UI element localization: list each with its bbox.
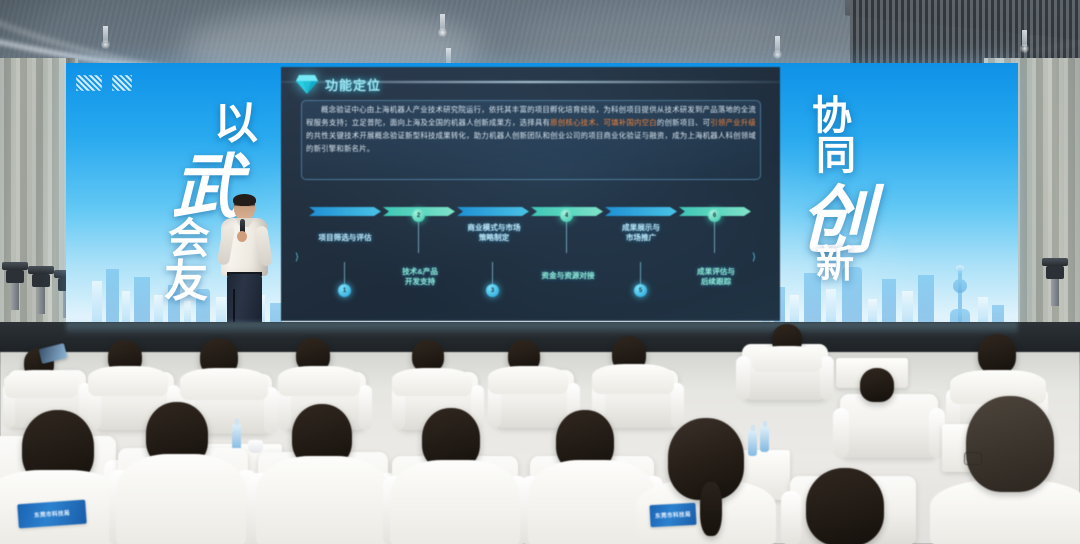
- attendee-shoulders: [116, 454, 246, 544]
- chair: [840, 394, 938, 458]
- timeline-segment-3: [457, 207, 529, 216]
- timeline-end-arrow: ⟩: [752, 253, 766, 262]
- stage-reflection: [66, 322, 1018, 336]
- timeline-dot-5: 5: [634, 284, 647, 297]
- downlight-fixture: [440, 14, 445, 30]
- paragraph-text: 的创新项目、可: [657, 118, 710, 127]
- attendee-braid: [700, 482, 722, 536]
- paragraph-highlight: 原创核心技术、可填补国内空白: [550, 118, 657, 127]
- timeline-stem: [640, 262, 641, 286]
- downlight-fixture: [103, 26, 108, 42]
- attendee-shoulders: [390, 460, 520, 544]
- timeline-stem: [492, 262, 493, 286]
- attendee-head: [966, 396, 1054, 492]
- chair-name-tag-text: 东莞市科技局: [34, 509, 70, 519]
- timeline-label-5: 成果展示与 市场推广: [601, 223, 681, 243]
- presenter: [216, 195, 274, 327]
- right-skyline-graphic: [758, 263, 1008, 325]
- chair-name-tag: 东莞市科技局: [17, 500, 87, 529]
- timeline-dot-6: 6: [708, 209, 721, 222]
- slogan-char: 新: [816, 233, 854, 288]
- eyeglasses-icon: [964, 452, 982, 465]
- timeline-dot-4: 4: [560, 209, 573, 222]
- timeline-label-1: 项目筛选与评估: [309, 233, 381, 243]
- attendee-head: [978, 334, 1016, 374]
- water-bottle: [748, 430, 757, 456]
- paragraph-text: 的共性关键技术开展概念验证新型科技成果转化，助力机器人创新团队和创业公司的项目商…: [306, 131, 756, 153]
- attendee-shoulders: [88, 366, 168, 396]
- lectern: [28, 266, 54, 314]
- slide-section-header: 功能定位: [295, 73, 381, 95]
- attendee-shoulders: [4, 370, 78, 398]
- attendee-shoulders: [592, 364, 674, 394]
- attendee-shoulders: [180, 368, 268, 400]
- teacup: [248, 440, 263, 453]
- water-bottle: [232, 424, 241, 450]
- timeline-label-3: 商业模式与市场 策略制定: [451, 223, 537, 243]
- timeline-stem: [714, 222, 715, 253]
- timeline-label-4: 资金与资源对接: [527, 271, 609, 281]
- presentation-slide: 功能定位 概念验证中心由上海机器人产业技术研究院运行，依托其丰富的项目孵化培育经…: [281, 67, 780, 321]
- process-timeline: ⟩ ⟩ 项目筛选与评估 1 2 技术&产品 开发支持 商业模式与市场 策略制定 …: [295, 207, 765, 312]
- lectern: [2, 262, 28, 310]
- chair-name-tag: 东莞市科技局: [649, 503, 696, 527]
- downlight-fixture: [446, 48, 451, 64]
- organizer-logo-icon: [76, 75, 102, 91]
- timeline-segment-5: [605, 207, 677, 216]
- conference-photo: 以 武 会 友 协 同 创 新 功能定位: [0, 0, 1080, 544]
- downlight-fixture: [1022, 30, 1027, 46]
- slide-paragraph: 概念验证中心由上海机器人产业技术研究院运行，依托其丰富的项目孵化培育经验，为科创…: [306, 103, 756, 155]
- lectern: [1042, 258, 1068, 306]
- audience-area: 东莞市科技局 东莞市科技局: [0, 352, 1080, 544]
- timeline-label-2: 技术&产品 开发支持: [381, 267, 459, 287]
- timeline-dot-1: 1: [338, 284, 351, 297]
- timeline-segment-1: [309, 207, 381, 216]
- timeline-dot-3: 3: [486, 284, 499, 297]
- paragraph-highlight: 引领产业升级: [710, 118, 756, 127]
- downlight-fixture: [775, 36, 780, 52]
- attendee-head: [806, 468, 884, 544]
- timeline-stem: [418, 222, 419, 253]
- timeline-stem: [566, 222, 567, 253]
- timeline-stem: [344, 262, 345, 286]
- presenter-hair: [233, 194, 256, 206]
- diamond-icon: [295, 73, 319, 95]
- presenter-hand: [237, 231, 247, 242]
- slide-section-title: 功能定位: [325, 75, 381, 94]
- organizer-logo-icon: [112, 75, 132, 91]
- timeline-start-arrow: ⟩: [295, 253, 309, 262]
- water-bottle: [760, 426, 769, 452]
- timeline-dot-2: 2: [412, 209, 425, 222]
- chair-name-tag-text: 东莞市科技局: [655, 510, 691, 520]
- attendee-shoulders: [488, 366, 568, 394]
- attendee-shoulders: [278, 366, 360, 396]
- screen-logo-group: [76, 75, 132, 91]
- attendee-shoulders: [256, 456, 390, 544]
- slogan-char: 友: [164, 245, 208, 309]
- attendee-head: [860, 368, 894, 402]
- timeline-label-6: 成果评估与 后续跟踪: [677, 267, 755, 287]
- attendee-shoulders: [392, 368, 472, 396]
- attendee-shoulders: [752, 346, 822, 372]
